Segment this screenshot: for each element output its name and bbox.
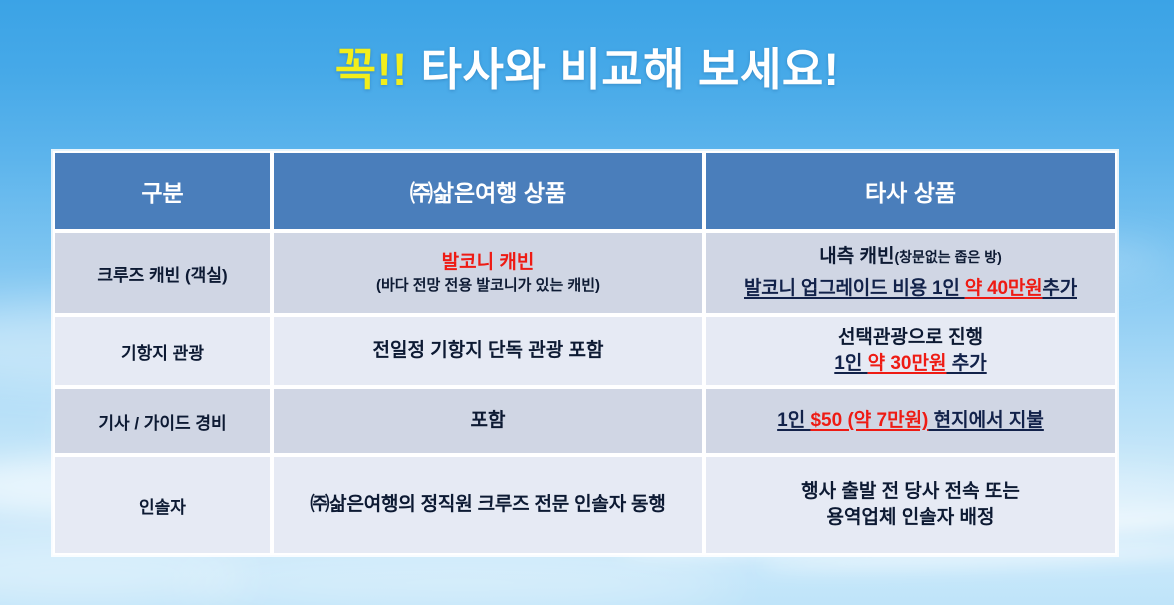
row-label-cabin: 크루즈 캐빈 (객실) [53,231,272,315]
row-label-port-tour: 기항지 관광 [53,315,272,387]
theirs-guide-fee-prefix: 1인 [777,410,810,431]
ours-tour-leader-text: ㈜삶은여행의 정직원 크루즈 전문 인솔자 동행 [280,492,696,518]
theirs-cabin-line1: 내측 캐빈(창문없는 좁은 방) [712,244,1109,270]
theirs-cabin-title: 내측 캐빈 [819,246,894,267]
header-our-product: ㈜삶은여행 상품 [272,151,704,231]
theirs-port-tour-line2: 1인 약 30만원 추가 [712,351,1109,377]
ours-guide-fee-text: 포함 [280,408,696,434]
cell-ours-guide-fee: 포함 [272,387,704,455]
row-label-tour-leader: 인솔자 [53,455,272,555]
ours-port-tour-text: 전일정 기항지 단독 관광 포함 [280,338,696,364]
table-header-row: 구분 ㈜삶은여행 상품 타사 상품 [53,151,1117,231]
theirs-port-tour-suffix: 추가 [946,353,986,374]
page-title: 꼭!! 타사와 비교해 보세요! [0,33,1174,98]
cell-theirs-guide-fee: 1인 $50 (약 7만원) 현지에서 지불 [704,387,1117,455]
table-row: 인솔자 ㈜삶은여행의 정직원 크루즈 전문 인솔자 동행 행사 출발 전 당사 … [53,455,1117,555]
theirs-guide-fee-price: $50 (약 7만원) [810,410,928,431]
theirs-tour-leader-line1: 행사 출발 전 당사 전속 또는 [712,479,1109,505]
comparison-table: 구분 ㈜삶은여행 상품 타사 상품 크루즈 캐빈 (객실) 발코니 캐빈 (바다… [53,151,1117,555]
header-category: 구분 [53,151,272,231]
theirs-cabin-upgrade-price: 약 40만원 [965,278,1043,299]
theirs-cabin-upgrade-text: 발코니 업그레이드 비용 1인 [744,278,965,299]
cell-ours-cabin: 발코니 캐빈 (바다 전망 전용 발코니가 있는 캐빈) [272,231,704,315]
row-label-guide-fee: 기사 / 가이드 경비 [53,387,272,455]
ours-cabin-note: (바다 전망 전용 발코니가 있는 캐빈) [280,276,696,296]
cell-ours-tour-leader: ㈜삶은여행의 정직원 크루즈 전문 인솔자 동행 [272,455,704,555]
cell-theirs-cabin: 내측 캐빈(창문없는 좁은 방) 발코니 업그레이드 비용 1인 약 40만원추… [704,231,1117,315]
theirs-cabin-upgrade-suffix: 추가 [1042,278,1077,299]
theirs-port-tour-price: 약 30만원 [868,353,947,374]
theirs-port-tour-line1: 선택관광으로 진행 [712,325,1109,351]
ours-cabin-title: 발코니 캐빈 [280,250,696,276]
theirs-cabin-note: (창문없는 좁은 방) [894,249,1001,265]
cell-ours-port-tour: 전일정 기항지 단독 관광 포함 [272,315,704,387]
theirs-cabin-line2: 발코니 업그레이드 비용 1인 약 40만원추가 [712,276,1109,302]
cell-theirs-tour-leader: 행사 출발 전 당사 전속 또는 용역업체 인솔자 배정 [704,455,1117,555]
theirs-tour-leader-line2: 용역업체 인솔자 배정 [712,505,1109,531]
table-row: 기항지 관광 전일정 기항지 단독 관광 포함 선택관광으로 진행 1인 약 3… [53,315,1117,387]
theirs-guide-fee-suffix: 현지에서 지불 [928,410,1043,431]
title-highlight: 꼭!! [335,44,408,95]
title-rest: 타사와 비교해 보세요! [408,44,840,95]
table-row: 기사 / 가이드 경비 포함 1인 $50 (약 7만원) 현지에서 지불 [53,387,1117,455]
cell-theirs-port-tour: 선택관광으로 진행 1인 약 30만원 추가 [704,315,1117,387]
theirs-guide-fee-line: 1인 $50 (약 7만원) 현지에서 지불 [712,408,1109,434]
table-row: 크루즈 캐빈 (객실) 발코니 캐빈 (바다 전망 전용 발코니가 있는 캐빈)… [53,231,1117,315]
theirs-port-tour-prefix: 1인 [834,353,867,374]
header-other-product: 타사 상품 [704,151,1117,231]
